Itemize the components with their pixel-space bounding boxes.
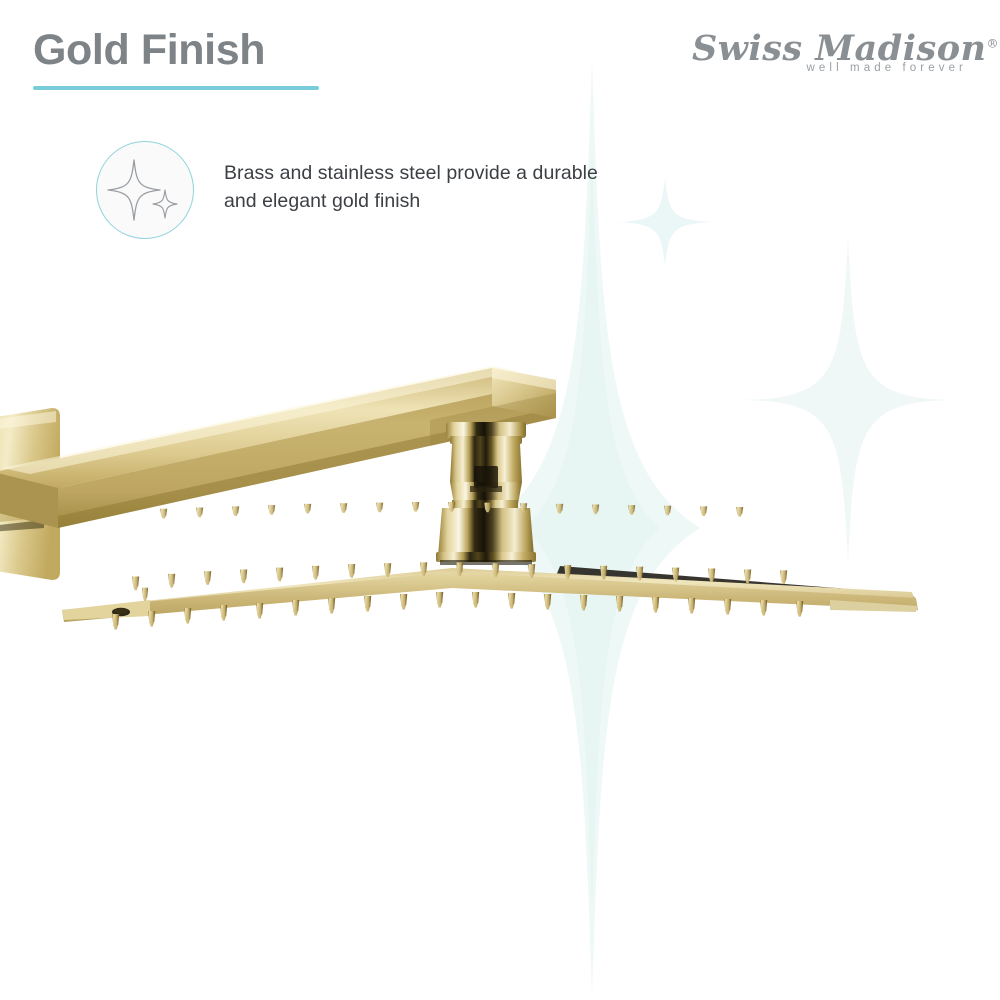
- feature-callout: Brass and stainless steel provide a dura…: [96, 141, 736, 251]
- feature-description-line-2: and elegant gold finish: [224, 187, 724, 215]
- registered-trademark-symbol: ®: [986, 36, 999, 50]
- swivel-connector: [436, 422, 536, 565]
- brand-tagline: well made forever: [807, 62, 967, 74]
- product-feature-slide: Gold Finish Swiss Madison® well made for…: [0, 0, 1000, 1000]
- page-title: Gold Finish: [33, 29, 265, 72]
- feature-description-line-1: Brass and stainless steel provide a dura…: [224, 159, 724, 187]
- title-underline: [33, 86, 319, 90]
- brand-logo: Swiss Madison® well made forever: [692, 28, 970, 90]
- sparkle-shine-icon: [97, 142, 193, 238]
- feature-description: Brass and stainless steel provide a dura…: [224, 159, 724, 215]
- feature-icon-circle: [96, 141, 194, 239]
- product-image: [0, 360, 1000, 680]
